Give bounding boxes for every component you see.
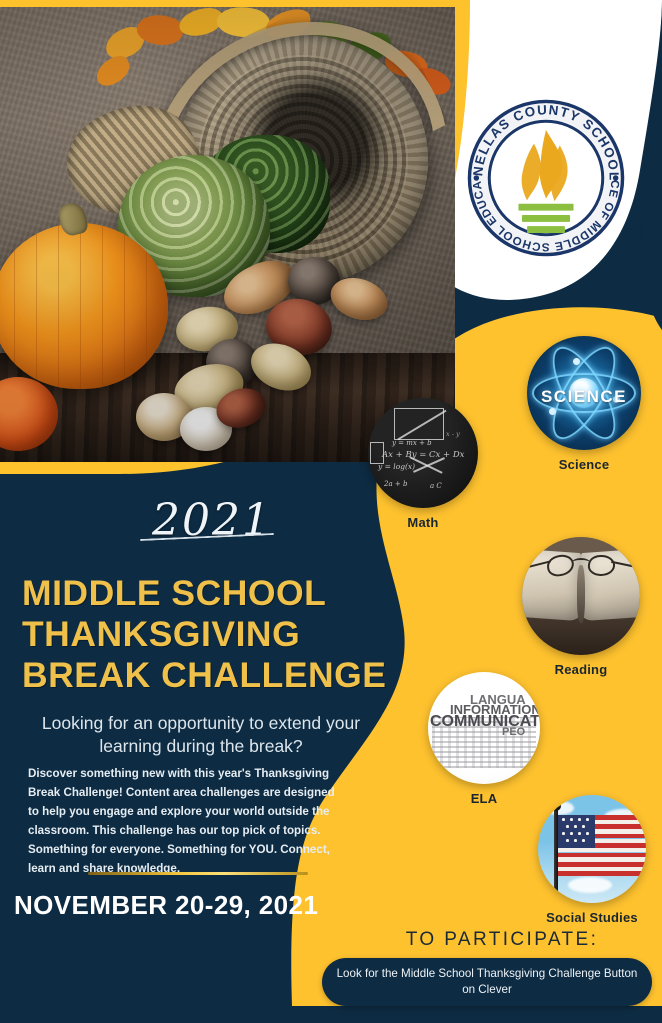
title-line-1: MIDDLE SCHOOL (22, 573, 422, 614)
flag-stripe (558, 871, 646, 876)
eyeglasses-icon (547, 555, 615, 581)
chalk-equation: a C (430, 482, 442, 490)
poster-root: PINELLAS COUNTY SCHOOLS OFFICE OF MIDDLE… (0, 0, 662, 1023)
flag-star (562, 832, 565, 835)
page-title: MIDDLE SCHOOL THANKSGIVING BREAK CHALLEN… (22, 573, 422, 697)
logo-dot-right (613, 175, 619, 181)
subject-label: Science (527, 457, 641, 472)
flag-star (582, 825, 585, 828)
chalk-equation: x - y (446, 430, 460, 438)
flag-star (566, 825, 569, 828)
subject-math[interactable]: y = mx + b Ax + By = Cx + Dx y = log(x) … (368, 398, 478, 530)
flag-star (566, 839, 569, 842)
flag-star (578, 832, 581, 835)
clever-button-callout[interactable]: Look for the Middle School Thanksgiving … (322, 958, 652, 1006)
chalk-equation: Ax + By = Cx + Dx (382, 450, 464, 460)
flag-star (570, 818, 573, 821)
flag-star (562, 818, 565, 821)
subject-ela[interactable]: LANGUA INFORMATION COMMUNICATIO PEO ELA (428, 672, 540, 806)
logo-dot-left (474, 175, 480, 181)
subject-science[interactable]: SCIENCE Science (527, 336, 641, 472)
us-flag (558, 815, 646, 877)
chalk-equation: y = log(x) (378, 462, 415, 471)
date-divider (88, 872, 308, 875)
flag-star (574, 825, 577, 828)
flag-star (574, 839, 577, 842)
cloud (568, 877, 612, 893)
title-line-2: THANKSGIVING (22, 614, 422, 655)
glasses-lens-right (587, 554, 616, 578)
title-line-3: BREAK CHALLENGE (22, 655, 422, 696)
pinellas-county-schools-logo: PINELLAS COUNTY SCHOOLS OFFICE OF MIDDLE… (460, 92, 632, 264)
flag-star (586, 818, 589, 821)
flag-star (578, 818, 581, 821)
chalk-equation: y = mx + b (392, 439, 432, 447)
subject-reading[interactable]: Reading (522, 537, 640, 677)
flag-star (586, 832, 589, 835)
subject-label: Math (368, 515, 478, 530)
subject-label: Social Studies (538, 910, 646, 925)
flag-star (582, 839, 585, 842)
subject-social-studies[interactable]: Social Studies (538, 795, 646, 925)
electron-dot (549, 408, 556, 415)
open-book-glasses-image (522, 537, 640, 655)
american-flag-image (538, 795, 646, 903)
subject-label: ELA (428, 791, 540, 806)
clever-callout-text: Look for the Middle School Thanksgiving … (322, 966, 652, 999)
chalk-equation: 2a + b (384, 480, 407, 488)
body-copy: Discover something new with this year's … (28, 764, 344, 878)
math-chalkboard-image: y = mx + b Ax + By = Cx + Dx y = log(x) … (368, 398, 478, 508)
flag-star (570, 832, 573, 835)
science-atom-image: SCIENCE (527, 336, 641, 450)
electron-dot (573, 358, 580, 365)
glasses-bridge (572, 558, 590, 567)
date-range: NOVEMBER 20-29, 2021 (14, 890, 354, 921)
science-overlay-text: SCIENCE (527, 387, 641, 407)
flag-canton (558, 815, 595, 848)
flagpole-finial (551, 801, 561, 811)
ela-word-cloud-image: LANGUA INFORMATION COMMUNICATIO PEO (428, 672, 540, 784)
word-cloud-word: PEO (502, 726, 525, 738)
subheading: Looking for an opportunity to extend you… (20, 712, 382, 759)
participate-heading: TO PARTICIPATE: (352, 929, 652, 951)
glasses-lens-left (546, 553, 576, 578)
